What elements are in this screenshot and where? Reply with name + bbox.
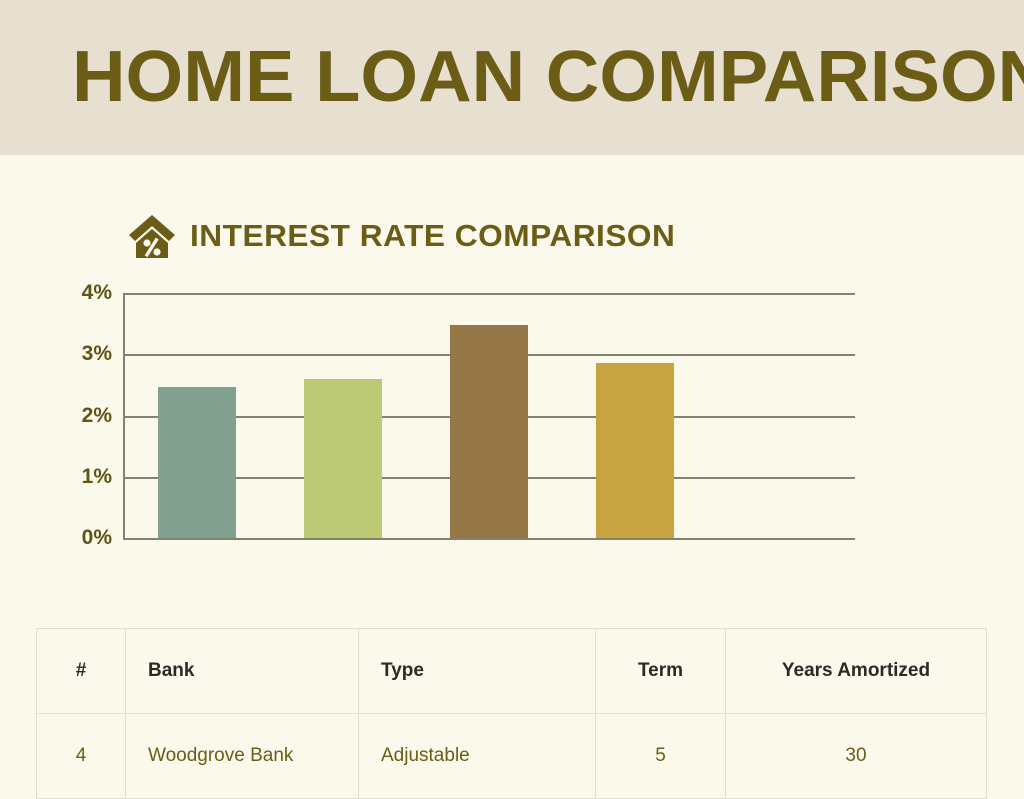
bar-series — [123, 293, 855, 538]
y-tick-label: 4% — [52, 281, 112, 305]
table-header-row: # Bank Type Term Years Amortized — [37, 629, 987, 714]
page-title: HOME LOAN COMPARISON — [72, 38, 1024, 116]
cell-num: 4 — [37, 714, 126, 799]
house-percent-icon — [128, 213, 176, 259]
interest-rate-chart: INTEREST RATE COMPARISON 0%1%2%3%4% — [0, 155, 1024, 610]
cell-term: 5 — [596, 714, 726, 799]
chart-header: INTEREST RATE COMPARISON — [128, 213, 666, 259]
cell-type: Adjustable — [359, 714, 596, 799]
bar-2[interactable] — [304, 379, 382, 538]
y-tick-label: 0% — [52, 526, 112, 550]
cell-years: 30 — [726, 714, 987, 799]
column-header-num[interactable]: # — [37, 629, 126, 714]
title-band: HOME LOAN COMPARISON — [0, 0, 1024, 155]
y-tick-label: 3% — [52, 342, 112, 366]
chart-title: INTEREST RATE COMPARISON — [190, 218, 675, 254]
table-row[interactable]: 4 Woodgrove Bank Adjustable 5 30 — [37, 714, 987, 799]
y-tick-label: 1% — [52, 465, 112, 489]
column-header-years[interactable]: Years Amortized — [726, 629, 987, 714]
cell-bank: Woodgrove Bank — [126, 714, 359, 799]
bar-3[interactable] — [450, 325, 528, 538]
chart-plot-area — [123, 293, 855, 538]
bar-1[interactable] — [158, 387, 236, 538]
column-header-type[interactable]: Type — [359, 629, 596, 714]
bar-4[interactable] — [596, 363, 674, 538]
gridline-0% — [123, 538, 855, 540]
y-tick-label: 2% — [52, 404, 112, 428]
column-header-term[interactable]: Term — [596, 629, 726, 714]
column-header-bank[interactable]: Bank — [126, 629, 359, 714]
loan-comparison-table: # Bank Type Term Years Amortized 4 Woodg… — [36, 628, 987, 799]
